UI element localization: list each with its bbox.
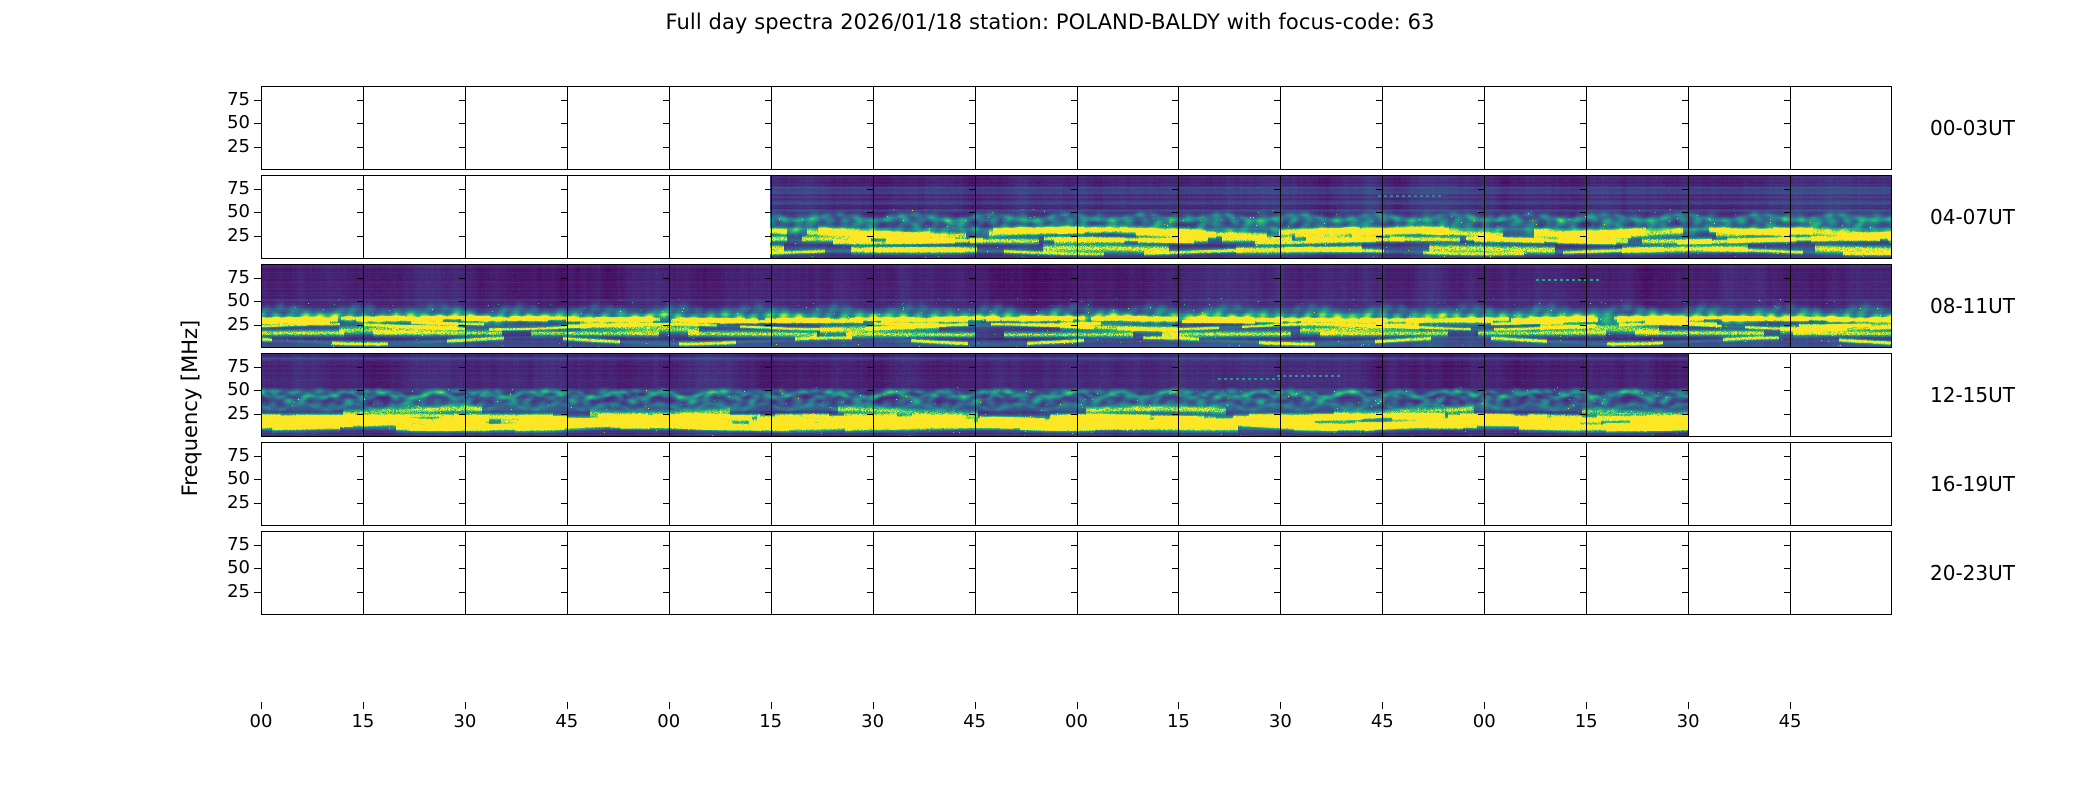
y-tick-mark — [254, 414, 261, 415]
y-tick-label: 75 — [227, 180, 250, 198]
y-tick-mark — [254, 503, 261, 504]
y-tick-mark — [254, 147, 261, 148]
x-tick-mark — [465, 702, 466, 709]
y-tick-mark — [254, 367, 261, 368]
y-tick-label: 50 — [227, 292, 250, 310]
spectrogram-canvas — [261, 175, 1892, 259]
spectra-row-12-15ut: 25507512-15UT — [261, 353, 1892, 437]
spectra-row-00-03ut: 25507500-03UT — [261, 86, 1892, 170]
spectrogram-canvas — [261, 86, 1892, 170]
y-tick-mark — [254, 390, 261, 391]
x-tick-label: 30 — [453, 713, 476, 731]
x-tick-label: 00 — [1065, 713, 1088, 731]
y-tick-label: 25 — [227, 494, 250, 512]
x-tick-mark — [1484, 702, 1485, 709]
y-tick-label: 25 — [227, 138, 250, 156]
x-tick-label: 15 — [1575, 713, 1598, 731]
x-tick-label: 00 — [657, 713, 680, 731]
spectrogram-canvas — [261, 442, 1892, 526]
x-tick-mark — [873, 702, 874, 709]
spectrogram-canvas — [261, 531, 1892, 615]
x-tick-label: 15 — [351, 713, 374, 731]
y-tick-mark — [254, 479, 261, 480]
y-tick-mark — [254, 123, 261, 124]
y-tick-label: 50 — [227, 381, 250, 399]
y-tick-mark — [254, 301, 261, 302]
y-tick-mark — [254, 456, 261, 457]
x-tick-mark — [771, 702, 772, 709]
x-tick-mark — [975, 702, 976, 709]
y-tick-mark — [254, 100, 261, 101]
y-axis-label: Frequency [MHz] — [178, 268, 206, 548]
y-tick-label: 50 — [227, 114, 250, 132]
x-tick-mark — [1382, 702, 1383, 709]
x-tick-label: 45 — [1371, 713, 1394, 731]
x-tick-mark — [1077, 702, 1078, 709]
y-tick-label: 75 — [227, 536, 250, 554]
x-tick-label: 15 — [1167, 713, 1190, 731]
x-tick-mark — [1178, 702, 1179, 709]
y-tick-mark — [254, 189, 261, 190]
y-tick-label: 50 — [227, 470, 250, 488]
spectra-figure: Full day spectra 2026/01/18 station: POL… — [0, 0, 2100, 800]
x-tick-label: 15 — [759, 713, 782, 731]
x-axis: 00153045001530450015304500153045 — [261, 702, 1892, 762]
y-tick-label: 75 — [227, 269, 250, 287]
x-tick-label: 00 — [250, 713, 273, 731]
row-time-label: 04-07UT — [1930, 207, 2015, 227]
x-tick-mark — [1790, 702, 1791, 709]
x-tick-label: 30 — [861, 713, 884, 731]
y-tick-label: 25 — [227, 583, 250, 601]
row-time-label: 00-03UT — [1930, 118, 2015, 138]
y-tick-label: 25 — [227, 316, 250, 334]
x-tick-mark — [261, 702, 262, 709]
y-tick-label: 25 — [227, 227, 250, 245]
x-tick-label: 00 — [1473, 713, 1496, 731]
x-tick-mark — [1280, 702, 1281, 709]
spectra-row-16-19ut: 25507516-19UT — [261, 442, 1892, 526]
y-tick-label: 75 — [227, 91, 250, 109]
x-tick-mark — [1586, 702, 1587, 709]
x-tick-label: 45 — [963, 713, 986, 731]
y-tick-mark — [254, 236, 261, 237]
page-title: Full day spectra 2026/01/18 station: POL… — [0, 10, 2100, 34]
y-tick-label: 75 — [227, 447, 250, 465]
row-time-label: 16-19UT — [1930, 474, 2015, 494]
y-tick-label: 25 — [227, 405, 250, 423]
y-tick-mark — [254, 568, 261, 569]
x-tick-label: 45 — [555, 713, 578, 731]
x-tick-mark — [1688, 702, 1689, 709]
y-tick-mark — [254, 592, 261, 593]
x-tick-label: 30 — [1677, 713, 1700, 731]
spectra-row-04-07ut: 25507504-07UT — [261, 175, 1892, 259]
row-time-label: 08-11UT — [1930, 296, 2015, 316]
y-tick-label: 50 — [227, 559, 250, 577]
x-tick-label: 30 — [1269, 713, 1292, 731]
y-tick-mark — [254, 212, 261, 213]
y-tick-mark — [254, 278, 261, 279]
spectrogram-canvas — [261, 353, 1892, 437]
x-tick-mark — [363, 702, 364, 709]
y-tick-mark — [254, 325, 261, 326]
spectra-row-08-11ut: 25507508-11UT — [261, 264, 1892, 348]
y-tick-label: 50 — [227, 203, 250, 221]
x-tick-mark — [567, 702, 568, 709]
spectrogram-canvas — [261, 264, 1892, 348]
row-time-label: 12-15UT — [1930, 385, 2015, 405]
y-tick-mark — [254, 545, 261, 546]
x-tick-mark — [669, 702, 670, 709]
spectra-row-20-23ut: 25507520-23UT — [261, 531, 1892, 615]
row-time-label: 20-23UT — [1930, 563, 2015, 583]
y-tick-label: 75 — [227, 358, 250, 376]
x-tick-label: 45 — [1779, 713, 1802, 731]
